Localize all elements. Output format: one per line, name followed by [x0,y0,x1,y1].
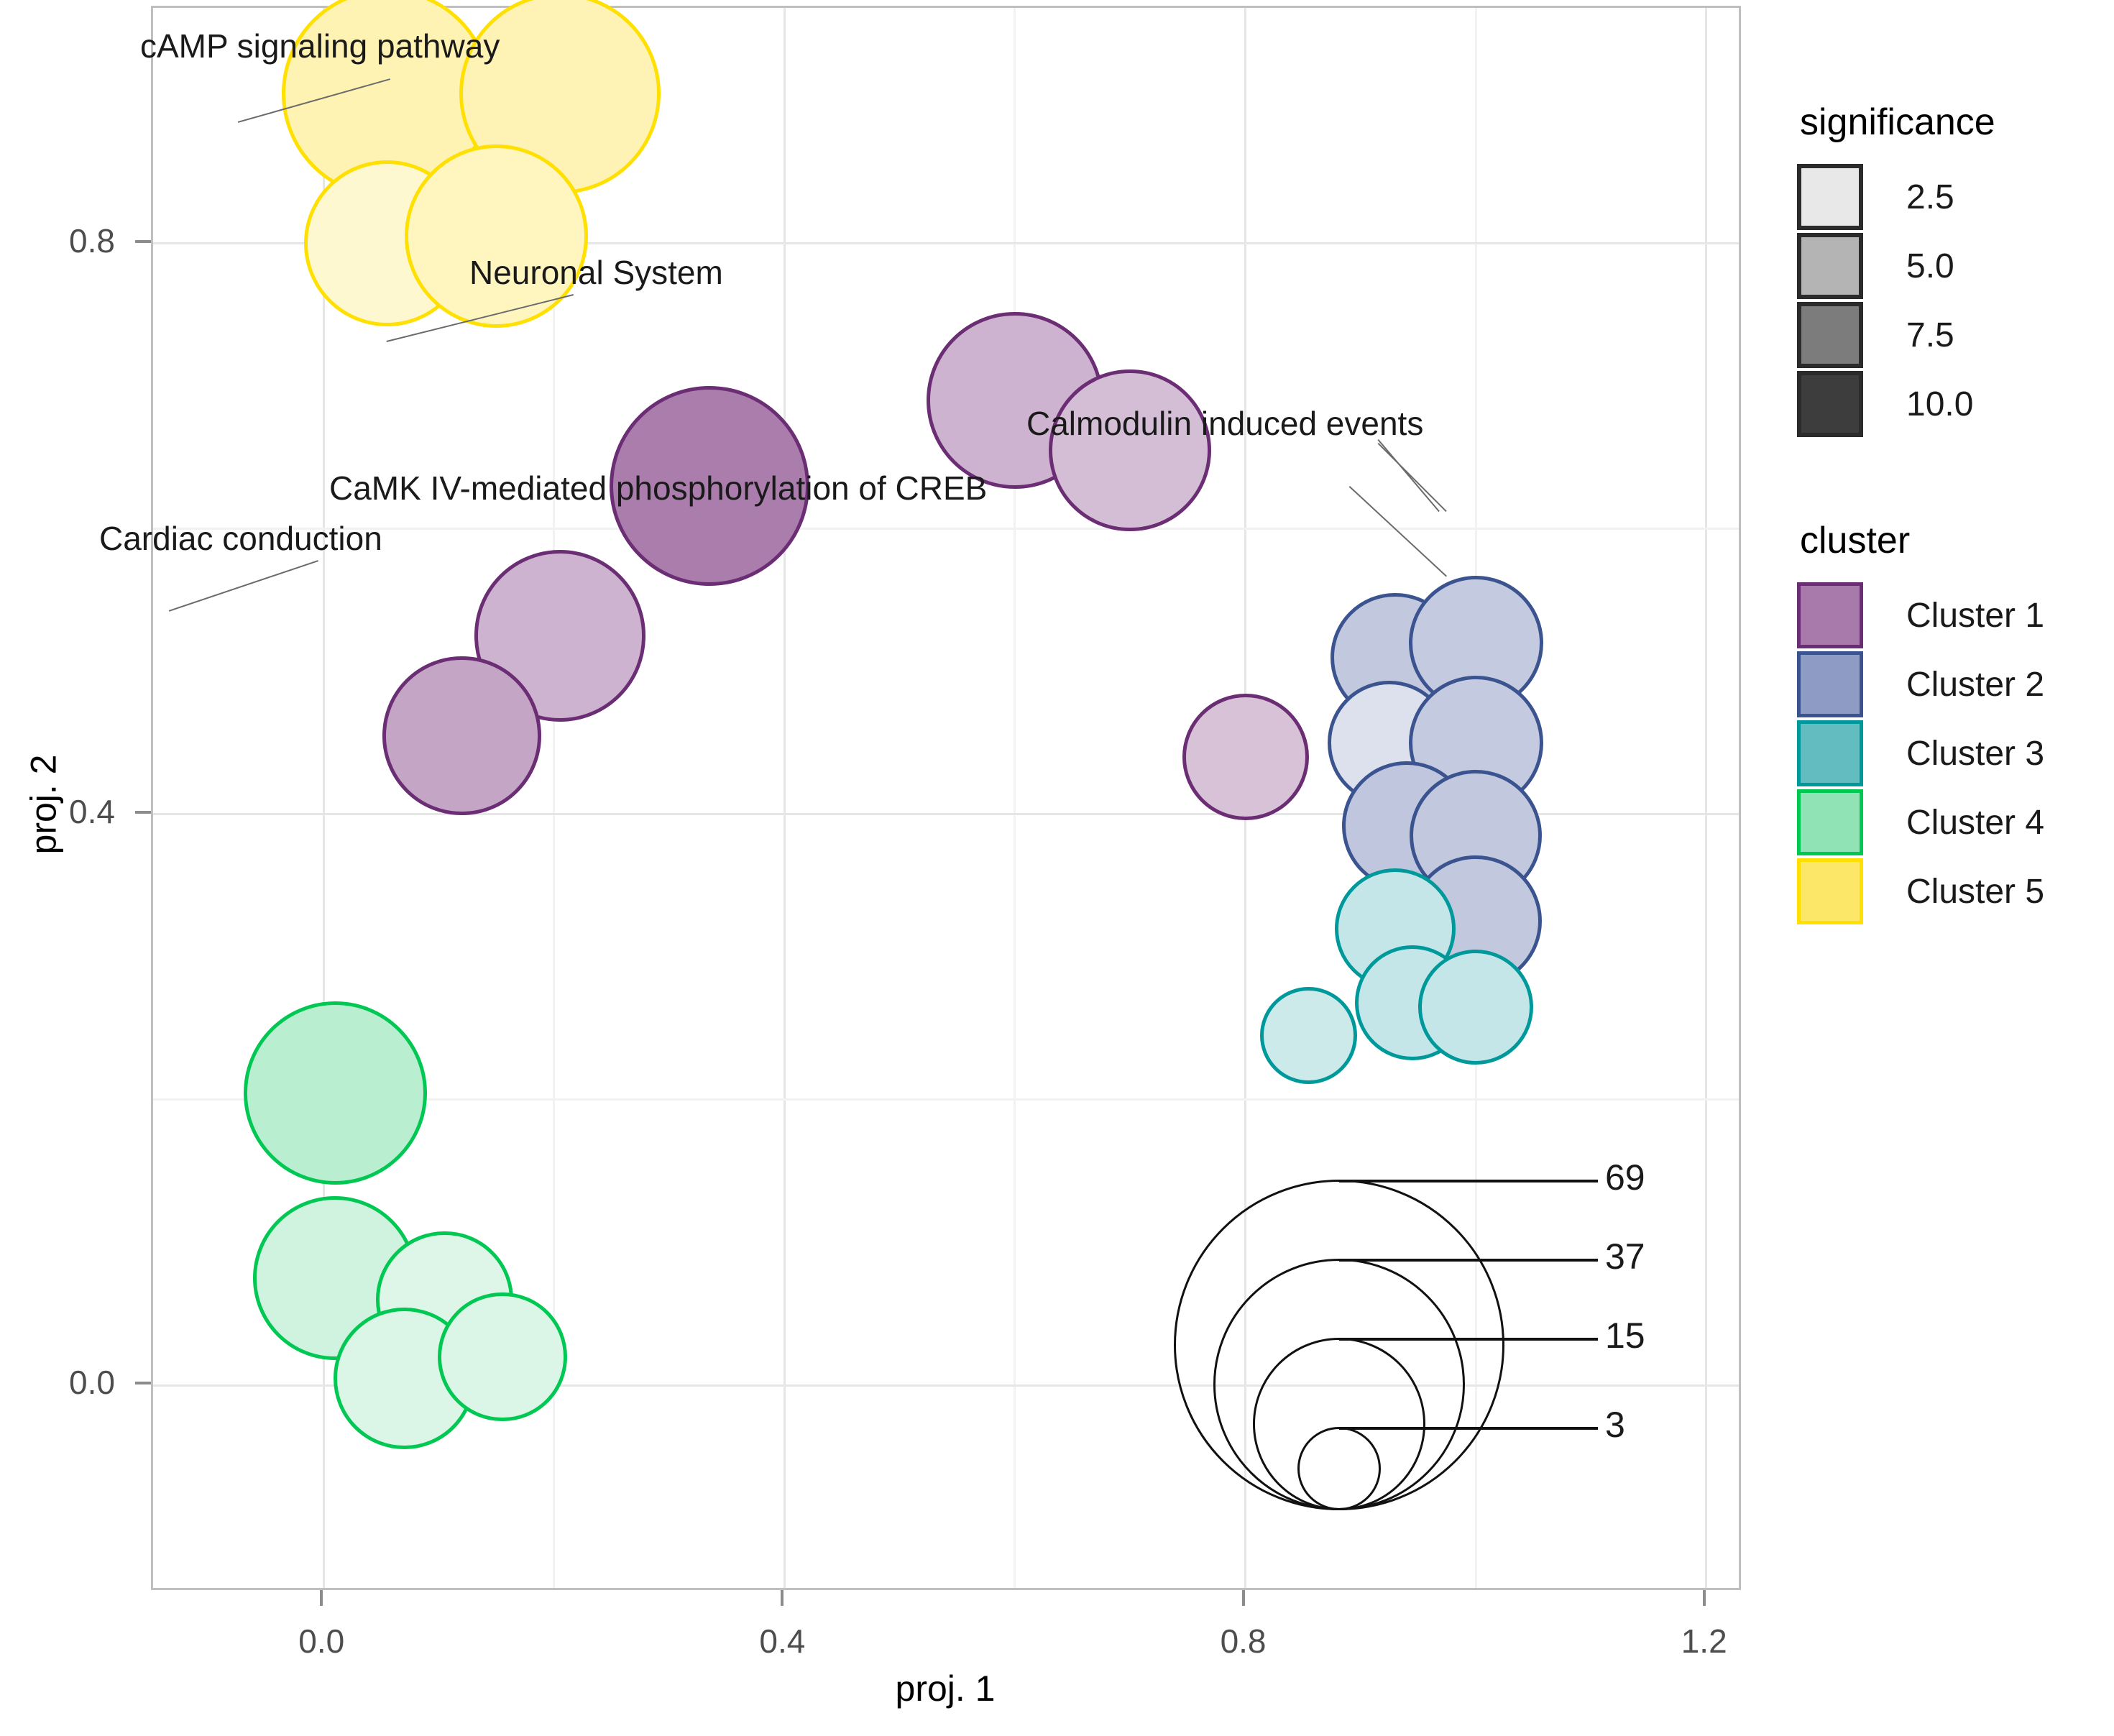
significance-legend-items: 2.55.07.510.0 [1797,162,2106,438]
significance-legend: significance 2.55.07.510.0 [1797,101,2106,438]
size-legend-label: 15 [1605,1315,1645,1356]
cluster-legend-label: Cluster 5 [1906,872,2044,911]
cluster-legend-items: Cluster 1Cluster 2Cluster 3Cluster 4Clus… [1797,581,2106,926]
size-legend-label: 3 [1605,1404,1625,1446]
cluster-legend-row[interactable]: Cluster 2 [1797,650,2106,719]
significance-legend-label: 7.5 [1906,316,1954,355]
cluster-swatch [1797,651,1863,717]
size-legend-leader [1339,1259,1598,1262]
cluster-legend-row[interactable]: Cluster 1 [1797,581,2106,650]
cluster-legend-title: cluster [1800,519,2106,562]
significance-swatch [1797,371,1863,437]
cluster-swatch [1797,582,1863,648]
cluster-legend-row[interactable]: Cluster 3 [1797,719,2106,788]
cluster-swatch [1797,789,1863,855]
size-legend-circle [1297,1427,1381,1510]
significance-swatch [1797,302,1863,368]
x-axis-title: proj. 1 [0,1668,1890,1709]
legend-column: significance 2.55.07.510.0 cluster Clust… [1797,101,2106,926]
size-legend-label: 69 [1605,1157,1645,1198]
cluster-legend-label: Cluster 3 [1906,734,2044,773]
x-tick-label: 0.0 [242,1622,400,1661]
significance-legend-label: 5.0 [1906,247,1954,286]
cluster-legend-row[interactable]: Cluster 5 [1797,857,2106,926]
cluster-swatch [1797,720,1863,786]
x-tick-mark [320,1590,323,1606]
size-legend-label: 37 [1605,1236,1645,1277]
significance-legend-row[interactable]: 10.0 [1797,369,2106,438]
significance-swatch [1797,233,1863,299]
y-tick-label: 0.0 [0,1363,115,1402]
significance-legend-row[interactable]: 7.5 [1797,300,2106,369]
x-tick-mark [1703,1590,1706,1606]
cluster-legend-label: Cluster 4 [1906,803,2044,842]
significance-legend-row[interactable]: 5.0 [1797,231,2106,300]
y-tick-mark [135,1382,151,1384]
x-tick-mark [1242,1590,1245,1606]
x-tick-label: 0.8 [1164,1622,1323,1661]
y-axis-title: proj. 2 [22,755,64,855]
x-tick-mark [781,1590,783,1606]
size-legend-leader [1339,1427,1598,1430]
x-tick-label: 1.2 [1625,1622,1783,1661]
cluster-legend-row[interactable]: Cluster 4 [1797,788,2106,857]
y-tick-label: 0.8 [0,221,115,260]
significance-legend-label: 2.5 [1906,178,1954,217]
significance-legend-label: 10.0 [1906,385,1973,424]
cluster-legend: cluster Cluster 1Cluster 2Cluster 3Clust… [1797,519,2106,926]
cluster-swatch [1797,858,1863,924]
cluster-legend-label: Cluster 1 [1906,596,2044,635]
significance-legend-title: significance [1800,101,2106,144]
size-legend-leader [1339,1338,1598,1341]
y-tick-mark [135,240,151,243]
significance-swatch [1797,164,1863,230]
size-legend-leader [1339,1180,1598,1182]
y-axis-title-wrapper: proj. 2 [0,784,438,825]
x-tick-label: 0.4 [703,1622,861,1661]
significance-legend-row[interactable]: 2.5 [1797,162,2106,231]
cluster-legend-label: Cluster 2 [1906,665,2044,704]
